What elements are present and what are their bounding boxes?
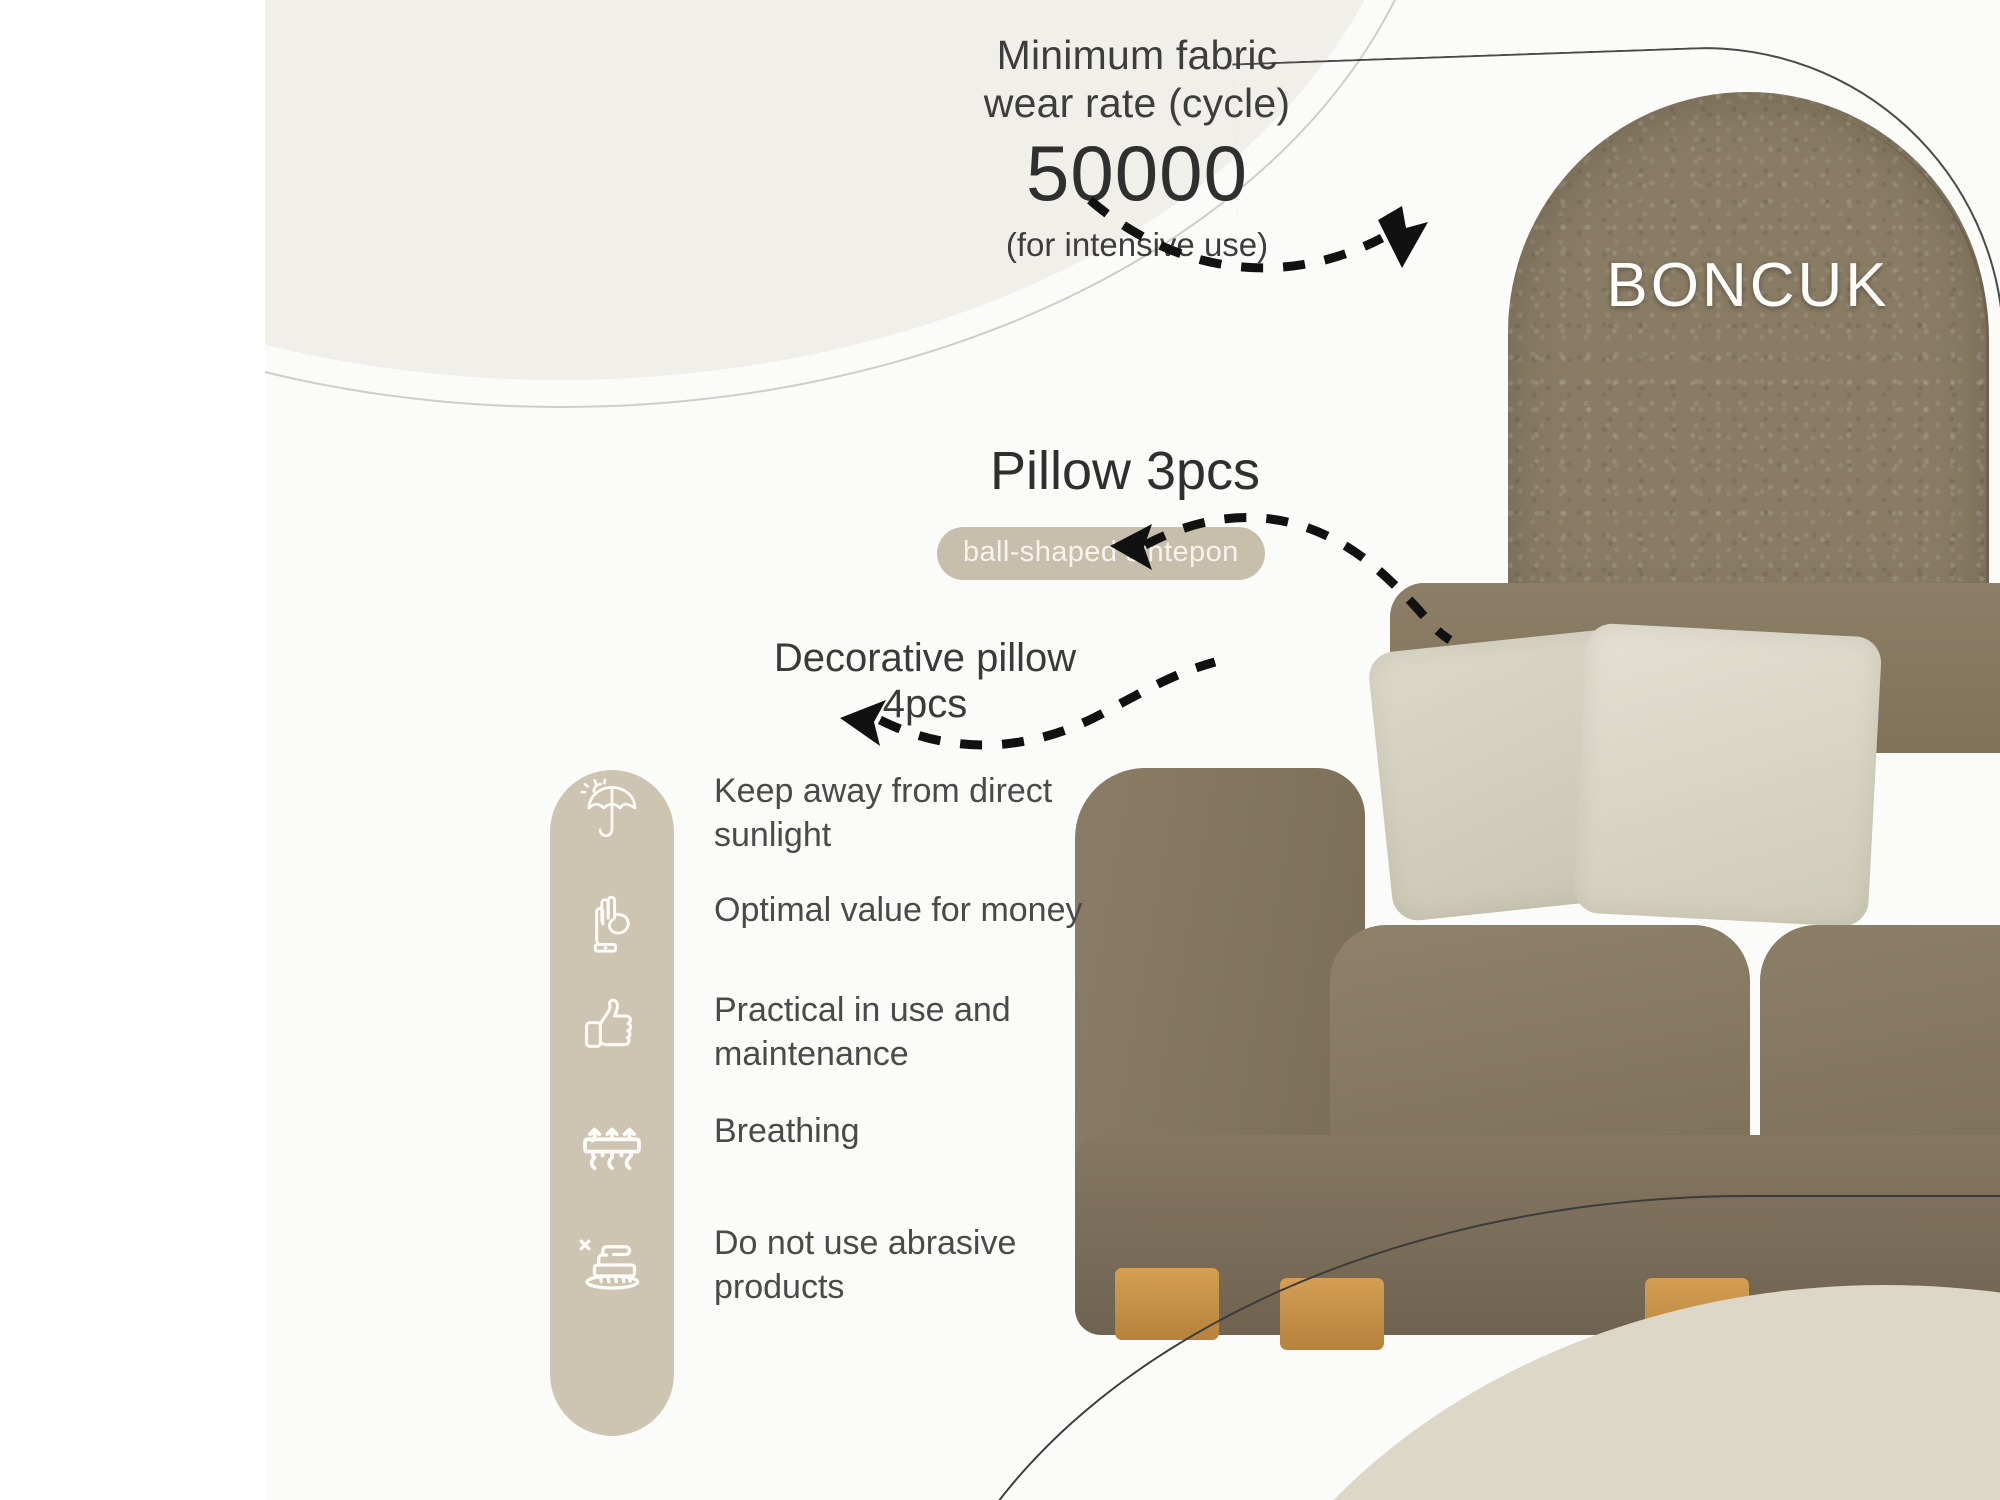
sofa-backrest [1508, 92, 1988, 612]
list-item: Breathing [550, 1110, 1250, 1186]
list-item: Do not use abrasive products [550, 1222, 1250, 1309]
breathability-icon [550, 1110, 674, 1186]
pillow-filling-badge: ball-shaped sintepon [937, 527, 1265, 580]
infographic-canvas: BONCUK Minimum fabric wear rate (cycle) … [0, 0, 2000, 1500]
wear-rate-label: Minimum fabric wear rate (cycle) [877, 32, 1397, 127]
fabric-texture [1508, 92, 1988, 612]
feature-label: Keep away from direct sunlight [714, 770, 1052, 857]
infographic-card: BONCUK Minimum fabric wear rate (cycle) … [265, 0, 2000, 1500]
brand-logo-text: BONCUK [1508, 250, 1988, 321]
list-item: Keep away from direct sunlight [550, 770, 1250, 857]
feature-label: Do not use abrasive products [714, 1222, 1016, 1309]
wear-rate-block: Minimum fabric wear rate (cycle) 50000 (… [877, 32, 1397, 264]
list-item: Practical in use and maintenance [550, 989, 1250, 1076]
ok-hand-icon [550, 889, 674, 959]
feature-list: Keep away from direct sunlight Optimal v… [550, 770, 1250, 1309]
sun-umbrella-icon [550, 770, 674, 846]
list-item: Optimal value for money [550, 889, 1250, 959]
wear-rate-value: 50000 [877, 131, 1397, 217]
feature-label: Breathing [714, 1110, 860, 1154]
pillow-count-title: Pillow 3pcs [865, 440, 1385, 502]
wear-rate-note: (for intensive use) [877, 225, 1397, 265]
thumbs-up-icon [550, 989, 674, 1063]
feature-label: Practical in use and maintenance [714, 989, 1011, 1076]
decorative-pillow-title: Decorative pillow 4pcs [695, 635, 1155, 727]
feature-label: Optimal value for money [714, 889, 1083, 933]
decorative-pillow-right [1573, 622, 1883, 927]
no-abrasive-brush-icon [550, 1222, 674, 1302]
